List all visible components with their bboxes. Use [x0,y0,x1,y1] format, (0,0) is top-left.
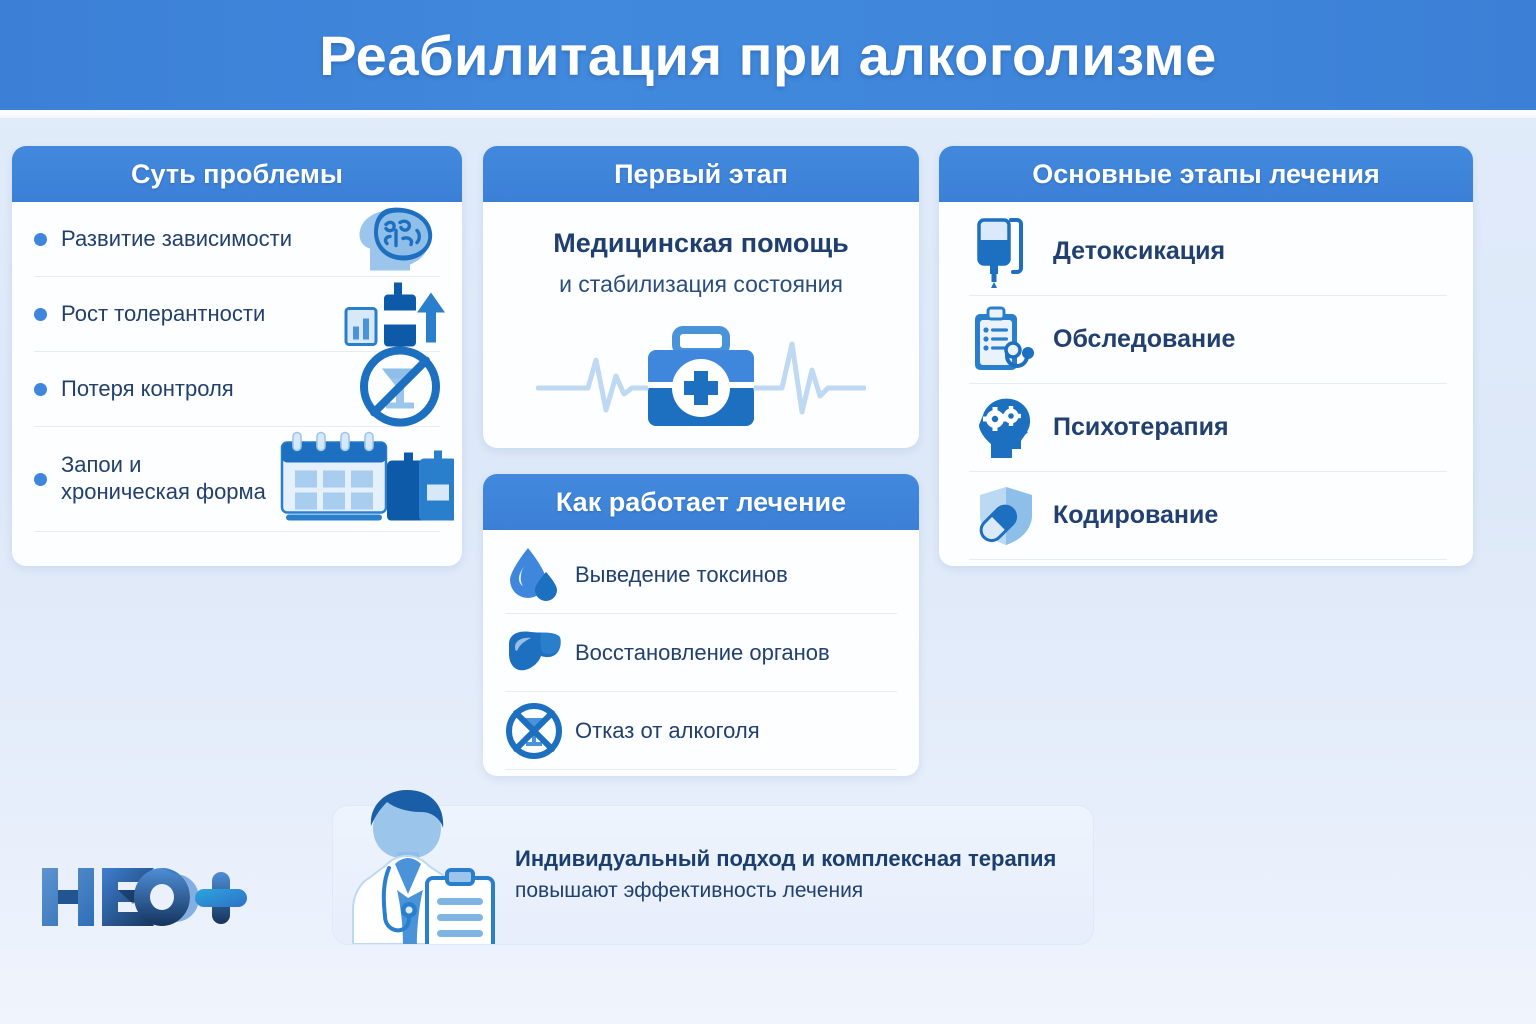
page-title: Реабилитация при алкоголизме [319,23,1217,88]
first-stage-line1: Медицинская помощь [505,228,897,259]
card-treatment-stages: Основные этапы лечения Детоксикация [939,146,1473,566]
card-problem-header: Суть проблемы [12,146,462,202]
list-item[interactable]: Детоксикация [969,208,1447,296]
bottle-chart-arrow-icon [342,273,446,356]
bullet-dot-icon [34,233,47,246]
bottom-banner-line1: Индивидуальный подход и комплексная тера… [515,846,1056,872]
bullet-dot-icon [34,308,47,321]
card-problem-title: Суть проблемы [131,159,343,190]
card-first-stage-body: Медицинская помощь и стабилизация состоя… [483,202,919,434]
bottom-banner-line2: повышают эффективность лечения [515,879,1056,903]
list-item[interactable]: Потеря контроля [34,352,440,427]
card-first-stage: Первый этап Медицинская помощь и стабили… [483,146,919,448]
brain-head-icon [350,201,446,278]
list-item[interactable]: Отказ от алкоголя [505,692,897,770]
list-item-label: Рост толерантности [61,301,265,328]
card-how-it-works-body: Выведение токсинов Восстановление органо… [483,530,919,770]
first-aid-kit-ecg-icon [505,314,897,434]
list-item-label: Психотерапия [1053,413,1229,442]
list-item[interactable]: Развитие зависимости [34,202,440,277]
card-treatment-stages-header: Основные этапы лечения [939,146,1473,202]
card-how-it-works-header: Как работает лечение [483,474,919,530]
list-item-label: Потеря контроля [61,376,234,403]
list-item-label: Выведение токсинов [575,562,788,588]
card-how-it-works: Как работает лечение Выведение токсинов [483,474,919,776]
list-item-label: Детоксикация [1053,237,1225,266]
page-title-banner: Реабилитация при алкоголизме [0,0,1536,110]
list-item[interactable]: Рост толерантности [34,277,440,352]
bottom-banner-text: Индивидуальный подход и комплексная тера… [515,846,1056,903]
list-item-label: Кодирование [1053,501,1218,530]
first-stage-line2: и стабилизация состояния [505,271,897,298]
calendar-bottles-icon [276,427,454,532]
list-item-label: Развитие зависимости [61,226,292,253]
card-how-it-works-title: Как работает лечение [556,487,846,518]
list-item-label: Обследование [1053,325,1235,354]
clipboard-stethoscope-icon [969,306,1039,374]
card-first-stage-header: Первый этап [483,146,919,202]
list-item-label: Запои и хроническая форма [61,452,266,506]
head-gears-icon [969,395,1039,461]
bullet-dot-icon [34,383,47,396]
card-problem: Суть проблемы Развитие зависимости [12,146,462,566]
list-item[interactable]: Кодирование [969,472,1447,560]
pill-shield-icon [969,485,1039,547]
bottom-highlight-banner: Индивидуальный подход и комплексная тера… [332,805,1094,945]
banner-underline [0,110,1536,118]
neo-plus-logo[interactable] [36,858,256,943]
card-first-stage-title: Первый этап [614,159,788,190]
no-drink-circle-icon [505,702,563,760]
iv-drip-icon [969,216,1039,288]
no-alcohol-icon [354,343,446,436]
card-treatment-stages-body: Детоксикация Обследовани [939,202,1473,560]
list-item[interactable]: Обследование [969,296,1447,384]
list-item-label: Отказ от алкоголя [575,718,760,744]
list-item[interactable]: Психотерапия [969,384,1447,472]
doctor-clipboard-icon [311,786,521,949]
card-problem-body: Развитие зависимости [12,202,462,532]
bullet-dot-icon [34,473,47,486]
list-item[interactable]: Запои и хроническая форма [34,427,440,532]
card-treatment-stages-title: Основные этапы лечения [1032,159,1379,190]
water-drop-icon [505,546,563,604]
liver-icon [505,628,563,678]
first-stage-text: Медицинская помощь и стабилизация состоя… [505,202,897,298]
list-item[interactable]: Выведение токсинов [505,536,897,614]
list-item[interactable]: Восстановление органов [505,614,897,692]
list-item-label: Восстановление органов [575,640,830,666]
